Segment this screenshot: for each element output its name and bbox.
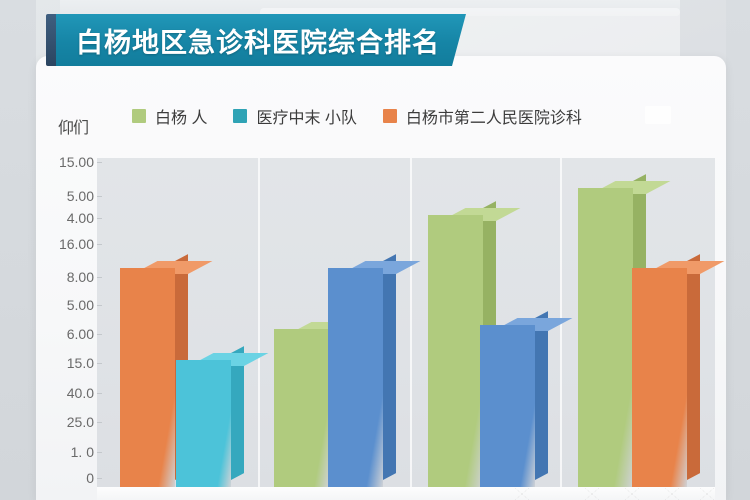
bar-front-face <box>176 360 231 487</box>
plot-area <box>97 158 715 487</box>
legend-label-0: 白杨 人 <box>155 104 207 128</box>
bar-g4-s1[interactable] <box>578 188 633 487</box>
y-tick-label: 5.00 <box>67 297 94 313</box>
y-axis-ticks: 15.005.004.0016.008.005.006.0015.040.025… <box>36 158 94 498</box>
y-tick-label: 25.0 <box>67 414 94 430</box>
cut-off-glyph <box>700 488 714 500</box>
y-tick-mark <box>97 478 102 479</box>
y-tick-mark <box>97 218 102 219</box>
bar-front-face <box>578 188 633 487</box>
legend-label-1: 医疗中末 小队 <box>256 104 356 128</box>
bar-g1-s1[interactable] <box>120 268 175 487</box>
y-tick-mark <box>97 244 102 245</box>
legend-swatch-teal <box>233 109 247 123</box>
y-tick-label: 1. 0 <box>71 444 94 460</box>
title-banner-body: 白杨地区急诊科医院综合排名 <box>56 14 466 66</box>
y-tick-label: 15.0 <box>67 355 94 371</box>
y-tick-mark <box>97 422 102 423</box>
legend-swatch-green <box>132 109 146 123</box>
cut-off-glyph <box>625 488 639 500</box>
page-title: 白杨地区急诊科医院综合排名 <box>76 21 440 60</box>
left-background-strip <box>0 0 36 500</box>
legend-label-2: 白杨市第二人民医院诊科 <box>406 104 582 128</box>
y-tick-label: 6.00 <box>67 326 94 342</box>
y-tick-label: 40.0 <box>67 385 94 401</box>
y-tick-mark <box>97 162 102 163</box>
y-tick-mark <box>97 393 102 394</box>
y-tick-label: 0 <box>86 470 94 486</box>
y-tick-mark <box>97 277 102 278</box>
bar-side-face <box>535 311 548 480</box>
y-tick-mark <box>97 334 102 335</box>
legend-item-1[interactable]: 医疗中末 小队 <box>233 104 356 128</box>
bar-side-face <box>687 254 700 480</box>
y-tick-label: 8.00 <box>67 269 94 285</box>
legend-swatch-orange <box>383 109 397 123</box>
cut-off-glyph <box>665 488 679 500</box>
y-tick-mark <box>97 196 102 197</box>
plot-separator-2 <box>410 158 412 487</box>
chart-legend: 白杨 人 医疗中末 小队 白杨市第二人民医院诊科 <box>132 104 582 128</box>
bar-g3-s1[interactable] <box>428 215 483 487</box>
bar-g2-s2[interactable] <box>328 268 383 487</box>
right-background-strip <box>726 0 750 500</box>
legend-item-2[interactable]: 白杨市第二人民医院诊科 <box>383 104 582 128</box>
bar-front-face <box>480 325 535 487</box>
y-tick-label: 5.00 <box>67 188 94 204</box>
bar-g4-s2[interactable] <box>632 268 687 487</box>
title-banner: 白杨地区急诊科医院综合排名 <box>46 14 466 66</box>
cut-off-glyph <box>515 488 529 500</box>
y-tick-mark <box>97 305 102 306</box>
y-tick-mark <box>97 363 102 364</box>
cut-off-glyph <box>585 488 599 500</box>
bar-front-face <box>328 268 383 487</box>
bar-side-face <box>231 346 244 480</box>
bottom-cut-glyphs <box>0 486 750 500</box>
bar-front-face <box>274 329 329 487</box>
bar-front-face <box>428 215 483 487</box>
legend-item-0[interactable]: 白杨 人 <box>132 104 207 128</box>
bar-front-face <box>632 268 687 487</box>
legend-overflow-ghost <box>645 106 671 124</box>
y-tick-mark <box>97 452 102 453</box>
bar-side-face <box>383 254 396 480</box>
bar-g2-s1[interactable] <box>274 329 329 487</box>
bar-front-face <box>120 268 175 487</box>
title-accent-bar <box>46 14 56 66</box>
bar-g3-s2[interactable] <box>480 325 535 487</box>
bar-g1-s2[interactable] <box>176 360 231 487</box>
plot-separator-1 <box>258 158 260 487</box>
y-tick-label: 15.00 <box>59 154 94 170</box>
y-tick-label: 16.00 <box>59 236 94 252</box>
y-axis-title: 仰们 <box>58 114 88 138</box>
y-tick-label: 4.00 <box>67 210 94 226</box>
